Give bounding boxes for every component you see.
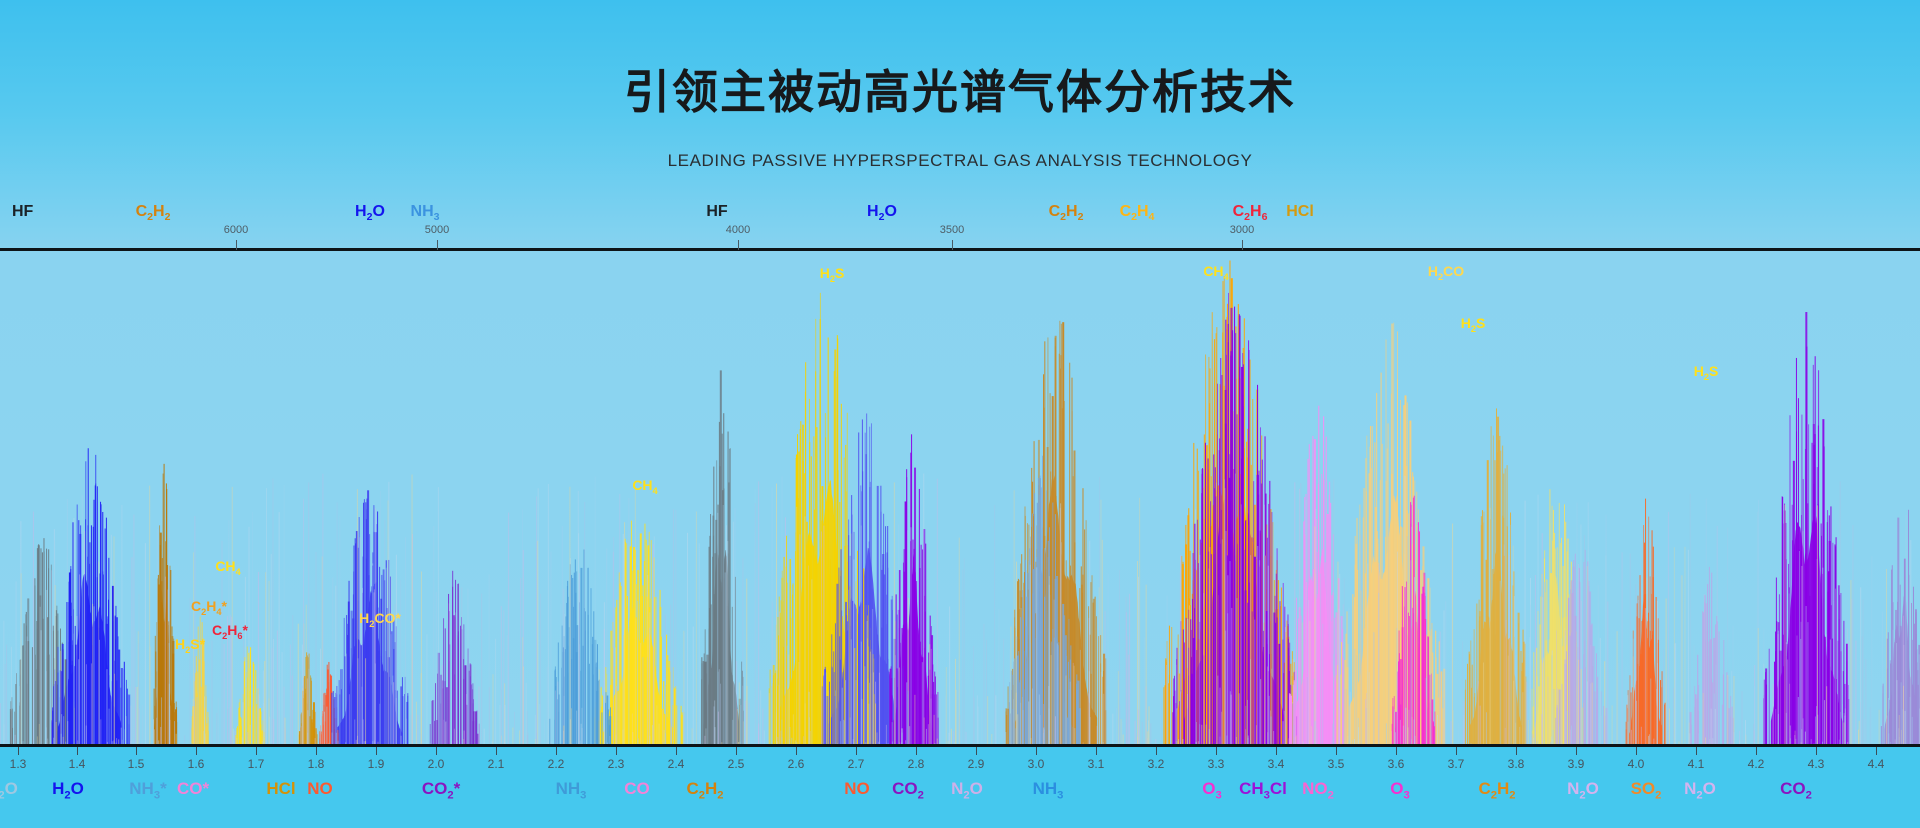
axis-bottom-tick [856,747,857,755]
gas-label-top-nh3: NH3 [411,203,440,223]
axis-bottom-tick-label: 3.8 [1508,757,1525,771]
axis-top-tick [952,240,953,250]
gas-label-bottom-no: NO [844,779,870,799]
axis-bottom-tick-label: 4.2 [1748,757,1765,771]
axis-bottom-tick-label: 3.1 [1088,757,1105,771]
spectral-chart-plot-area [0,250,1920,746]
axis-bottom-tick [77,747,78,755]
gas-label-inplot-c2h4: C2H4* [191,598,227,617]
gas-label-bottom-o3: O3 [1202,779,1221,801]
axis-top-line [0,248,1920,251]
axis-bottom-tick [18,747,19,755]
gas-label-top-hcl: HCl [1286,203,1314,221]
axis-bottom-tick-label: 1.6 [188,757,205,771]
page-title: 引领主被动高光谱气体分析技术 [0,56,1920,122]
axis-bottom-tick-label: 3.9 [1568,757,1585,771]
gas-label-bottom-no2: NO2 [1302,779,1334,801]
gas-label-bottom-c2h2: C2H2 [686,779,723,801]
axis-bottom-tick [256,747,257,755]
gas-label-inplot-h2co: H2CO [1428,263,1464,282]
axis-bottom-tick-label: 2.0 [428,757,445,771]
axis-bottom-tick-label: 2.2 [548,757,565,771]
axis-bottom-tick-label: 3.0 [1028,757,1045,771]
axis-bottom-tick [1216,747,1217,755]
axis-bottom-tick [1756,747,1757,755]
gas-label-top-hf: HF [706,203,727,221]
axis-bottom-tick-label: 2.6 [788,757,805,771]
axis-bottom-tick [316,747,317,755]
gas-label-top-h2o: H2O [867,203,897,223]
gas-label-top-c2h2: C2H2 [136,203,171,223]
spectra-canvas [0,250,1920,746]
axis-bottom-tick-label: 1.4 [69,757,86,771]
gas-label-bottom-co: CO [624,779,650,799]
gas-label-inplot-h2co: H2CO* [359,610,401,629]
axis-bottom-tick [1576,747,1577,755]
axis-bottom-tick [1816,747,1817,755]
gas-label-top-c2h6: C2H6 [1233,203,1268,223]
gas-label-bottom-nh3: NH3 [1033,779,1064,801]
axis-bottom-line [0,744,1920,747]
axis-bottom-tick [1336,747,1337,755]
axis-bottom-tick-label: 1.5 [128,757,145,771]
axis-bottom-tick [1156,747,1157,755]
gas-label-bottom-so2: SO2 [1631,779,1662,801]
axis-bottom-tick [1036,747,1037,755]
axis-bottom-tick [1696,747,1697,755]
axis-bottom-tick-label: 4.3 [1808,757,1825,771]
gas-label-bottom-ch3cl: CH3Cl [1239,779,1287,801]
axis-bottom-tick-label: 3.6 [1388,757,1405,771]
axis-top-tick-label: 4000 [726,224,750,236]
gas-label-inplot-h2s: H2S [820,265,845,284]
page-subtitle: LEADING PASSIVE HYPERSPECTRAL GAS ANALYS… [0,151,1920,171]
axis-bottom-tick [376,747,377,755]
gas-label-top-hf: HF [12,203,33,221]
gas-label-inplot-ch4: CH4 [1203,263,1228,282]
axis-bottom-tick-label: 2.7 [848,757,865,771]
axis-bottom-tick-label: 3.2 [1148,757,1165,771]
gas-label-bottom-co2: CO2* [422,779,460,801]
axis-bottom-tick [436,747,437,755]
gas-label-bottom-c2h2: C2H2 [1478,779,1515,801]
gas-label-bottom-hcl: HCl [266,779,295,799]
gas-label-inplot-ch4: CH4 [632,477,657,496]
page-header: 引领主被动高光谱气体分析技术 LEADING PASSIVE HYPERSPEC… [0,0,1920,250]
gas-label-bottom-o3: O3 [1390,779,1409,801]
axis-top-tick-label: 5000 [425,224,449,236]
axis-top-tick [236,240,237,250]
gas-label-inplot-h2s: H2S [1694,363,1719,382]
axis-bottom-tick-label: 3.5 [1328,757,1345,771]
axis-top-tick [738,240,739,250]
axis-bottom-tick [1096,747,1097,755]
axis-bottom-tick [916,747,917,755]
gas-label-bottom-nh3: NH3 [556,779,587,801]
axis-bottom-tick [976,747,977,755]
axis-bottom-tick [736,747,737,755]
gas-label-bottom-no: NO [307,779,333,799]
axis-bottom-tick-label: 4.0 [1628,757,1645,771]
axis-bottom-tick [796,747,797,755]
axis-top-tick-label: 6000 [224,224,248,236]
axis-top-tick-label: 3500 [940,224,964,236]
gas-label-top-c2h4: C2H4 [1120,203,1155,223]
axis-bottom-tick-label: 3.4 [1268,757,1285,771]
axis-bottom-tick [616,747,617,755]
axis-bottom-tick [136,747,137,755]
axis-bottom-tick-label: 4.1 [1688,757,1705,771]
axis-bottom-tick [1276,747,1277,755]
axis-bottom-tick [496,747,497,755]
gas-label-inplot-c2h6: C2H6* [212,622,248,641]
axis-bottom-tick-label: 2.8 [908,757,925,771]
axis-bottom-tick-label: 2.1 [488,757,505,771]
axis-bottom-tick [1456,747,1457,755]
gas-label-bottom-h2o: H2O [52,779,84,801]
gas-label-bottom-n2o: N2O [0,779,18,801]
gas-label-bottom-co: CO* [177,779,209,799]
axis-bottom-tick-label: 2.4 [668,757,685,771]
axis-bottom-tick [196,747,197,755]
gas-label-bottom-co2: CO2 [1780,779,1812,801]
gas-label-inplot-h2s: H2S* [175,636,205,655]
gas-label-inplot-ch4: CH4 [215,558,240,577]
gas-label-bottom-co2: CO2 [892,779,924,801]
gas-label-top-h2o: H2O [355,203,385,223]
gas-label-bottom-n2o: N2O [1684,779,1716,801]
axis-bottom-tick-label: 3.3 [1208,757,1225,771]
axis-top-tick [1242,240,1243,250]
axis-bottom-tick [556,747,557,755]
axis-bottom-tick-label: 2.9 [968,757,985,771]
axis-bottom-tick-label: 1.9 [368,757,385,771]
axis-bottom-tick-label: 2.3 [608,757,625,771]
axis-bottom-tick [676,747,677,755]
axis-top-tick-label: 3000 [1230,224,1254,236]
axis-bottom-tick [1876,747,1877,755]
axis-bottom-tick [1396,747,1397,755]
gas-label-bottom-nh3: NH3* [129,779,166,801]
gas-label-inplot-h2s: H2S [1461,315,1486,334]
axis-bottom-tick-label: 2.5 [728,757,745,771]
gas-label-top-c2h2: C2H2 [1049,203,1084,223]
axis-bottom-tick [1636,747,1637,755]
axis-bottom-tick [1516,747,1517,755]
axis-bottom-tick-label: 1.8 [308,757,325,771]
axis-bottom-tick-label: 1.3 [10,757,27,771]
gas-label-bottom-n2o: N2O [951,779,983,801]
gas-label-bottom-n2o: N2O [1567,779,1599,801]
axis-bottom-tick-label: 3.7 [1448,757,1465,771]
axis-bottom-tick-label: 1.7 [248,757,265,771]
axis-top-tick [437,240,438,250]
axis-bottom-tick-label: 4.4 [1868,757,1885,771]
